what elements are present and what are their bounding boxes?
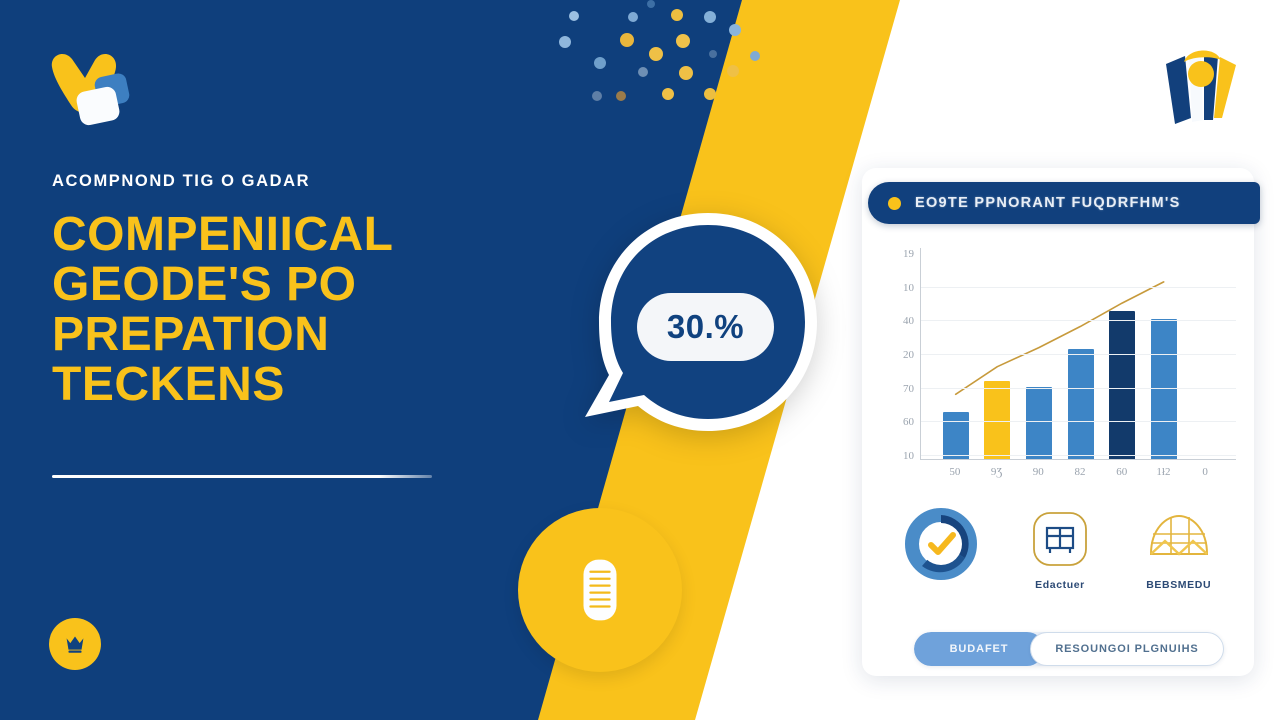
decor-dot <box>709 50 717 58</box>
decor-dot <box>594 57 606 69</box>
x-tick-label: 50 <box>934 466 976 486</box>
decor-dot <box>704 11 716 23</box>
crown-badge-icon <box>49 618 101 670</box>
app-logo <box>38 45 142 133</box>
research-metric[interactable]: BEBSMEDU <box>1119 508 1238 591</box>
headline-line-1: COMPENIICAL <box>52 210 532 260</box>
y-tick-label: 10 <box>880 282 914 294</box>
kpi-label: BEBSMEDU <box>1146 579 1211 591</box>
kpi-icon-row: Edactuer BEBSMEDU <box>882 508 1238 620</box>
toggle-option-budget[interactable]: BUDAFET <box>914 632 1044 666</box>
hero-text-block: ACOMPNOND TIG O GADAR COMPENIICAL GEODE'… <box>52 172 532 409</box>
x-tick-label: 0 <box>1184 466 1226 486</box>
donut-check-icon <box>905 508 977 580</box>
status-dot-icon <box>888 197 901 210</box>
decor-dot <box>616 91 626 101</box>
headline-line-4: TECKENS <box>52 360 532 410</box>
callout-bubble: 30.% <box>565 205 835 445</box>
decor-dot <box>569 11 579 21</box>
decor-dot <box>679 66 693 80</box>
fan-emblem-logo <box>1158 38 1244 130</box>
completion-gauge[interactable] <box>882 508 1001 589</box>
decor-dot <box>592 91 602 101</box>
chart-gridline <box>921 287 1236 288</box>
panel-header: EO9TE PPNORANT FUQDRFHM'S <box>868 182 1260 224</box>
y-tick-label: 40 <box>880 315 914 327</box>
decor-dot <box>729 24 741 36</box>
chart-gridline <box>921 455 1236 456</box>
chart-x-axis-labels: 509Ʒ9082601ł20 <box>920 466 1236 486</box>
headline-line-2: GEODE'S PO <box>52 260 532 310</box>
chart-gridline <box>921 421 1236 422</box>
decor-dot <box>620 33 634 47</box>
chart-gridline <box>921 354 1236 355</box>
percentage-value-pill: 30.% <box>637 293 774 361</box>
decor-dot <box>676 34 690 48</box>
y-tick-label: 70 <box>880 383 914 395</box>
headline-divider <box>52 475 432 478</box>
x-tick-label: 60 <box>1101 466 1143 486</box>
decor-dot <box>649 47 663 61</box>
chart-gridline <box>921 320 1236 321</box>
decor-dot <box>704 88 716 100</box>
decor-dot <box>559 36 571 48</box>
decor-dot <box>638 67 648 77</box>
decor-dot <box>662 88 674 100</box>
document-list-icon <box>580 557 620 623</box>
x-tick-label: 90 <box>1017 466 1059 486</box>
bar-chart: 19104020706010 509Ʒ9082601ł20 <box>880 242 1240 492</box>
education-metric[interactable]: Edactuer <box>1001 508 1120 591</box>
toggle-option-resource-planning[interactable]: RESOUNGOI PLGNUIHS <box>1030 632 1224 666</box>
decor-dot <box>750 51 760 61</box>
chart-y-axis-labels: 19104020706010 <box>880 248 914 460</box>
x-tick-label: 82 <box>1059 466 1101 486</box>
data-panel: EO9TE PPNORANT FUQDRFHM'S 19104020706010… <box>862 168 1254 676</box>
page-title: COMPENIICAL GEODE'S PO PREPATION TECKENS <box>52 210 532 410</box>
y-tick-label: 60 <box>880 416 914 428</box>
chart-plot-area <box>920 248 1236 460</box>
y-tick-label: 10 <box>880 450 914 462</box>
decor-dot <box>647 0 655 8</box>
headline-line-3: PREPATION <box>52 310 532 360</box>
chart-gridline <box>921 388 1236 389</box>
percentage-value: 30.% <box>667 308 744 346</box>
table-frame-icon <box>1029 508 1091 570</box>
feature-circle <box>518 508 682 672</box>
eyebrow-text: ACOMPNOND TIG O GADAR <box>52 172 532 192</box>
x-tick-label: 1ł2 <box>1143 466 1185 486</box>
decor-dot <box>671 9 683 21</box>
kpi-label: Edactuer <box>1035 579 1085 591</box>
infographic-poster: ACOMPNOND TIG O GADAR COMPENIICAL GEODE'… <box>0 0 1280 720</box>
dot-pattern-decoration <box>555 0 785 120</box>
view-toggle-group[interactable]: BUDAFET RESOUNGOI PLGNUIHS <box>914 632 1224 666</box>
dome-chart-icon <box>1145 508 1213 570</box>
y-tick-label: 20 <box>880 349 914 361</box>
trend-polyline <box>956 282 1164 394</box>
decor-dot <box>727 65 739 77</box>
panel-title: EO9TE PPNORANT FUQDRFHM'S <box>915 195 1181 211</box>
y-tick-label: 19 <box>880 248 914 260</box>
x-tick-label: 9Ʒ <box>976 466 1018 486</box>
decor-dot <box>628 12 638 22</box>
